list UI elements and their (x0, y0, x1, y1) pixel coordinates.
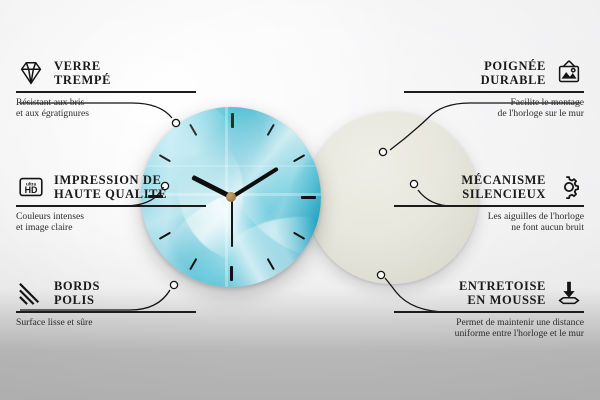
divider (394, 311, 584, 313)
feature-desc-line1: Permet de maintenir une distance (394, 317, 584, 329)
feature-desc-line2: ne font aucun bruit (394, 222, 584, 234)
feature-impression-haute-qualite: ultra HD IMPRESSION DE HAUTE QUALITÉ Cou… (16, 172, 206, 234)
foam-spacer-arrow-icon (554, 278, 584, 308)
feature-title-line1: VERRE (54, 59, 111, 73)
feature-entretoise-en-mousse: ENTRETOISE EN MOUSSE Permet de maintenir… (394, 278, 584, 340)
gear-icon (554, 172, 584, 202)
feature-bords-polis: BORDS POLIS Surface lisse et sûre (16, 278, 196, 328)
feature-title-line2: DURABLE (481, 73, 546, 87)
ultra-hd-icon: ultra HD (16, 172, 46, 202)
wall-hanger-frame-icon (554, 58, 584, 88)
feature-poignee-durable: POIGNÉE DURABLE Facilite le montage de l… (404, 58, 584, 120)
feature-desc-line1: Facilite le montage (404, 97, 584, 109)
polished-edges-icon (16, 278, 46, 308)
feature-title-line1: POIGNÉE (481, 59, 546, 73)
divider (16, 205, 206, 207)
feature-title-line1: ENTRETOISE (459, 279, 546, 293)
feature-desc-line2: uniforme entre l'horloge et le mur (394, 328, 584, 340)
divider (404, 91, 584, 93)
feature-desc-line1: Les aiguilles de l'horloge (394, 211, 584, 223)
feature-desc-line1: Couleurs intenses (16, 211, 206, 223)
svg-text:HD: HD (25, 185, 38, 195)
feature-desc-line2: et image claire (16, 222, 206, 234)
feature-verre-trempe: VERRE TREMPÉ Résistant aux bris et aux é… (16, 58, 196, 120)
feature-desc-line2: de l'horloge sur le mur (404, 108, 584, 120)
feature-mecanisme-silencieux: MÉCANISME SILENCIEUX Les aiguilles de l'… (394, 172, 584, 234)
feature-title-line2: TREMPÉ (54, 73, 111, 87)
infographic-canvas: VERRE TREMPÉ Résistant aux bris et aux é… (0, 0, 600, 400)
feature-title-line2: POLIS (54, 293, 100, 307)
feature-title-line2: EN MOUSSE (459, 293, 546, 307)
divider (394, 205, 584, 207)
feature-title-line2: HAUTE QUALITÉ (54, 187, 167, 201)
divider (16, 311, 196, 313)
divider (16, 91, 196, 93)
feature-desc-line2: et aux égratignures (16, 108, 196, 120)
feature-desc-line1: Résistant aux bris (16, 97, 196, 109)
feature-title-line2: SILENCIEUX (461, 187, 546, 201)
feature-title-line1: BORDS (54, 279, 100, 293)
feature-title-line1: MÉCANISME (461, 173, 546, 187)
diamond-icon (16, 58, 46, 88)
feature-desc-line1: Surface lisse et sûre (16, 317, 196, 329)
feature-title-line1: IMPRESSION DE (54, 173, 167, 187)
